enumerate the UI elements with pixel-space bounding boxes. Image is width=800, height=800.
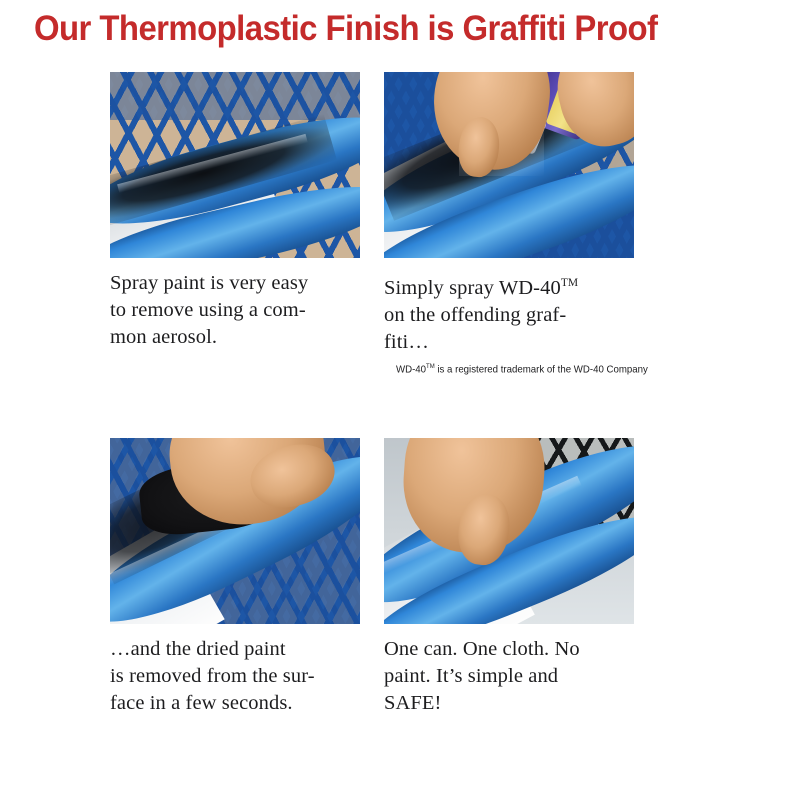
panel-3: …and the dried paint is removed from the… <box>110 438 360 717</box>
caption-line: One can. One cloth. No <box>384 636 634 663</box>
photo-hand-spraying-wd40-on-graffiti <box>384 72 634 258</box>
panel-2: Simply spray WD-40TM on the offending gr… <box>384 72 634 376</box>
caption-1: Spray paint is very easy to remove using… <box>110 270 360 351</box>
panel-row-top: Spray paint is very easy to remove using… <box>110 72 670 376</box>
flyer-page: Our Thermoplastic Finish is Graffiti Pro… <box>0 0 800 800</box>
caption-line: on the offending graf- <box>384 302 634 329</box>
page-title: Our Thermoplastic Finish is Graffiti Pro… <box>34 8 692 50</box>
caption-line: to remove using a com- <box>110 297 360 324</box>
trademark-notice-before: WD-40 <box>396 363 426 375</box>
panel-1: Spray paint is very easy to remove using… <box>110 72 360 376</box>
photo-blue-mesh-bench-with-black-spray-paint <box>110 72 360 258</box>
panel-4: One can. One cloth. No paint. It’s simpl… <box>384 438 634 717</box>
photo-caption-grid: Spray paint is very easy to remove using… <box>110 72 670 717</box>
caption-2: Simply spray WD-40TM on the offending gr… <box>384 270 634 356</box>
caption-line: paint. It’s simple and <box>384 663 634 690</box>
trademark-notice: WD-40TM is a registered trademark of the… <box>396 360 615 377</box>
trademark-superscript: TM <box>561 277 578 289</box>
panel-row-bottom: …and the dried paint is removed from the… <box>110 438 670 717</box>
photo-clean-blue-bench-after-removal <box>384 438 634 624</box>
caption-4: One can. One cloth. No paint. It’s simpl… <box>384 636 634 717</box>
photo-hand-wiping-paint-with-cloth <box>110 438 360 624</box>
trademark-notice-tm: TM <box>426 363 435 370</box>
caption-line: face in a few seconds. <box>110 690 360 717</box>
caption-line: …and the dried paint <box>110 636 360 663</box>
caption-line: Simply spray WD-40 <box>384 277 561 299</box>
trademark-notice-after: is a registered trademark of the WD-40 C… <box>435 363 648 375</box>
caption-line: Spray paint is very easy <box>110 270 360 297</box>
caption-line: mon aerosol. <box>110 324 360 351</box>
caption-line: SAFE! <box>384 690 634 717</box>
caption-line: fiti… <box>384 329 634 356</box>
row-spacer <box>110 376 670 438</box>
caption-line: is removed from the sur- <box>110 663 360 690</box>
caption-3: …and the dried paint is removed from the… <box>110 636 360 717</box>
